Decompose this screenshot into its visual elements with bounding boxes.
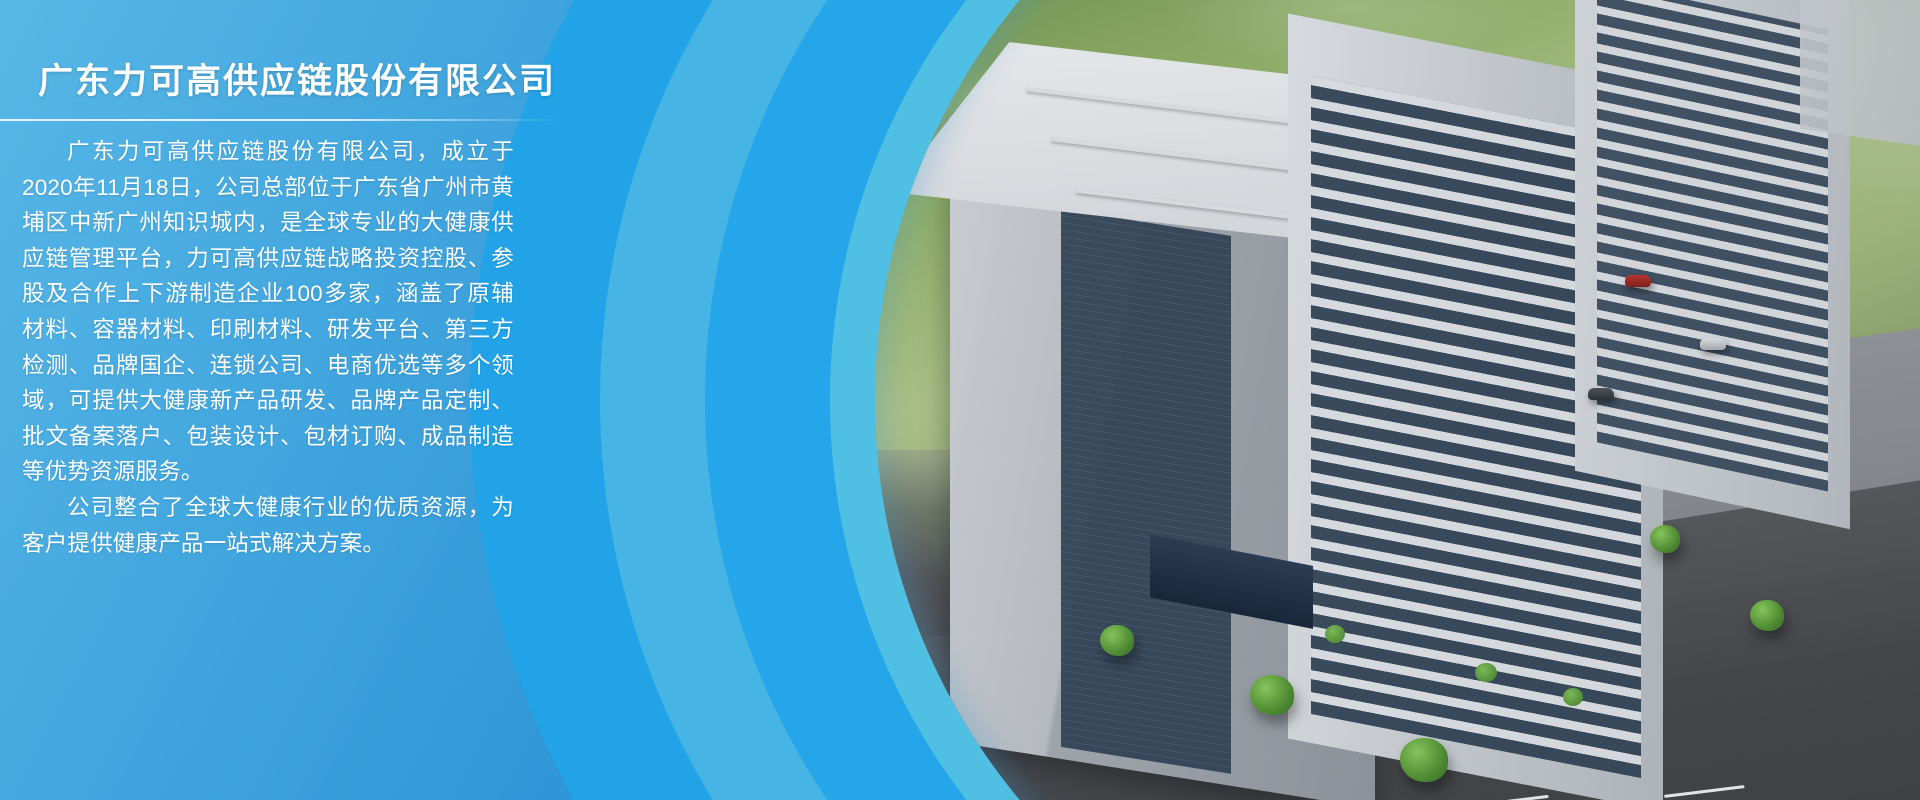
shrub	[1563, 688, 1583, 706]
window-grid	[1597, 0, 1828, 492]
description-paragraph-1: 广东力可高供应链股份有限公司，成立于2020年11月18日，公司总部位于广东省广…	[22, 134, 514, 490]
text-column: 广东力可高供应链股份有限公司 广东力可高供应链股份有限公司，成立于2020年11…	[0, 0, 640, 800]
tree	[1400, 738, 1448, 782]
shrub	[1325, 625, 1345, 643]
description-paragraph-2: 公司整合了全球大健康行业的优质资源，为客户提供健康产品一站式解决方案。	[22, 490, 514, 561]
title-divider	[0, 119, 560, 121]
tower-glass-curtain-wall	[1061, 209, 1231, 773]
road-lane-marking	[1664, 785, 1745, 798]
company-description: 广东力可高供应链股份有限公司，成立于2020年11月18日，公司总部位于广东省广…	[22, 134, 514, 561]
tree	[1650, 525, 1680, 553]
page-title: 广东力可高供应链股份有限公司	[38, 53, 556, 104]
tree	[1250, 675, 1294, 715]
tree	[1750, 600, 1784, 631]
company-intro-banner: 广东力可高供应链股份有限公司 广东力可高供应链股份有限公司，成立于2020年11…	[0, 0, 1920, 800]
car-parked-white	[1700, 338, 1726, 350]
tree	[1100, 625, 1134, 656]
road-lane-marking	[1468, 795, 1549, 800]
company-campus-photo	[875, 0, 1920, 800]
shrub	[1475, 663, 1497, 682]
campus-scene	[875, 0, 1920, 800]
car-parked-red	[1625, 275, 1651, 287]
car-parked-dark	[1588, 388, 1614, 400]
